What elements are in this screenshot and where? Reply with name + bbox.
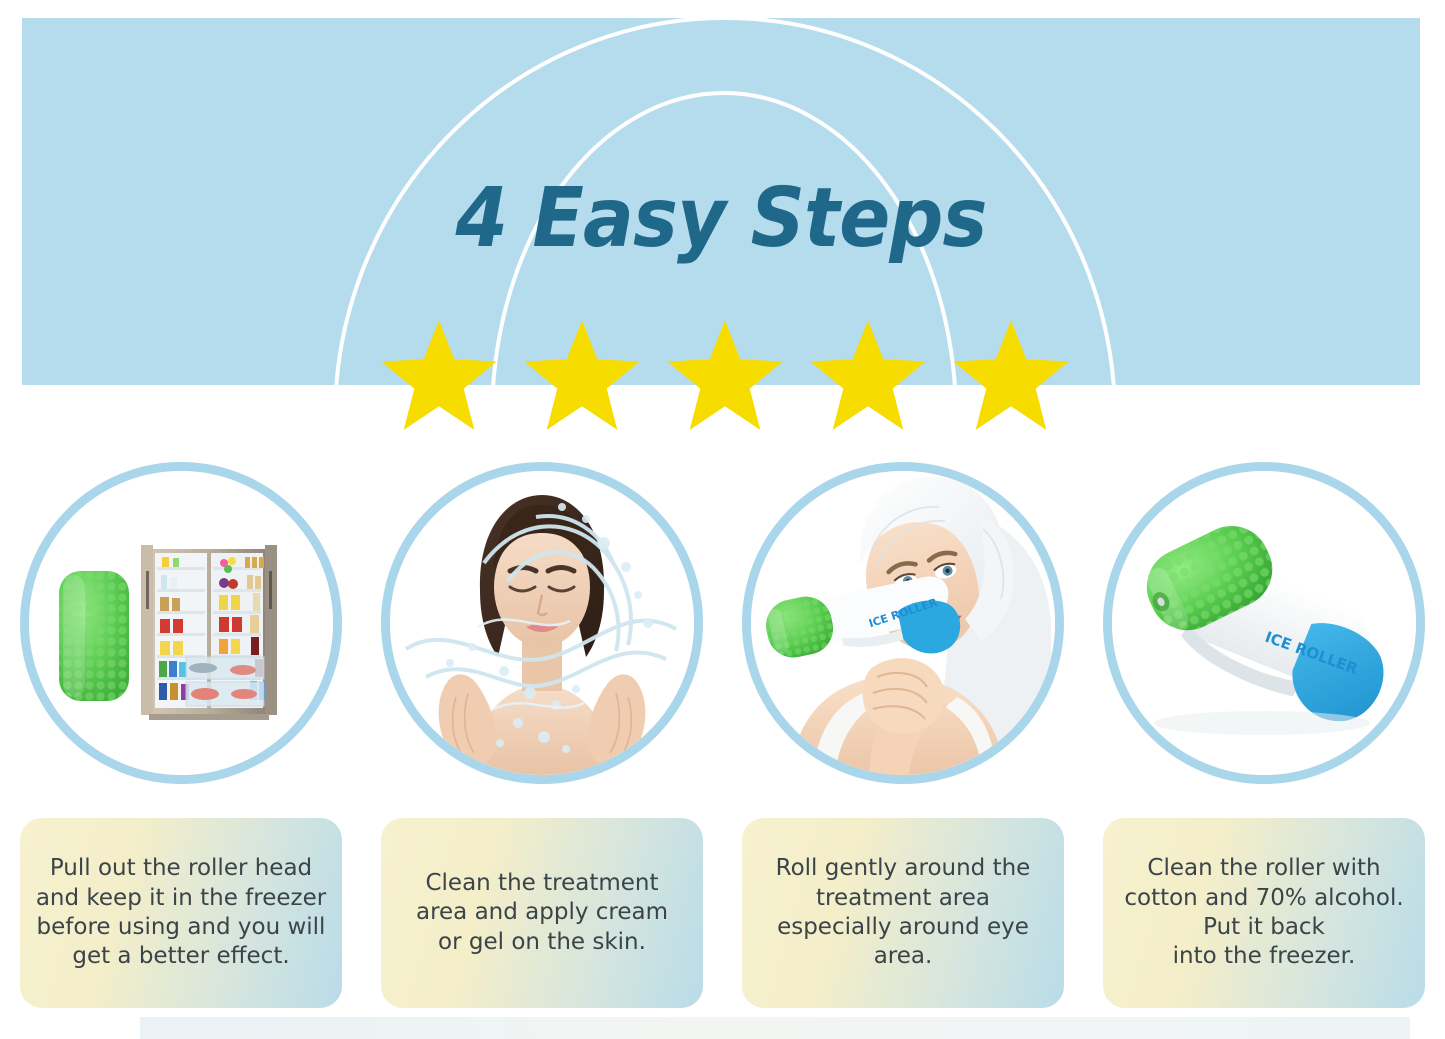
step-card-2: Clean the treatment area and apply cream… xyxy=(361,462,722,1022)
star-icon xyxy=(380,318,498,431)
step-1-caption-box: Pull out the roller head and keep it in … xyxy=(20,818,342,1008)
step-2-caption-text: Clean the treatment area and apply cream… xyxy=(416,869,668,957)
step-1-caption-text: Pull out the roller head and keep it in … xyxy=(36,854,326,972)
step-4-image-circle: ICE ROLLER xyxy=(1103,462,1425,784)
star-rating xyxy=(380,318,1070,438)
woman-washing-face-photo xyxy=(390,471,694,775)
step-card-4: ICE ROLLER Clean the roller with cotton … xyxy=(1083,462,1444,1022)
step-4-caption-text: Clean the roller with cotton and 70% alc… xyxy=(1124,854,1403,972)
step-2-caption-box: Clean the treatment area and apply cream… xyxy=(381,818,703,1008)
step-3-caption-box: Roll gently around the treatment area es… xyxy=(742,818,1064,1008)
step-2-image-circle xyxy=(381,462,703,784)
star-icon xyxy=(523,318,641,431)
steps-row: Pull out the roller head and keep it in … xyxy=(0,462,1445,1022)
woman-using-ice-roller-photo: ICE ROLLER xyxy=(751,471,1055,775)
ice-roller-disassembled-photo: ICE ROLLER xyxy=(1112,471,1416,775)
roller-head-and-freezer-photo xyxy=(29,471,333,775)
star-icon xyxy=(952,318,1070,431)
star-icon xyxy=(809,318,927,431)
page-title: 4 Easy Steps xyxy=(78,178,1364,260)
step-3-caption-text: Roll gently around the treatment area es… xyxy=(776,854,1031,972)
step-card-3: ICE ROLLER Roll gently around the treatm… xyxy=(722,462,1083,1022)
step-3-image-circle: ICE ROLLER xyxy=(742,462,1064,784)
step-1-image-circle xyxy=(20,462,342,784)
step-4-caption-box: Clean the roller with cotton and 70% alc… xyxy=(1103,818,1425,1008)
step-card-1: Pull out the roller head and keep it in … xyxy=(0,462,361,1022)
star-icon xyxy=(666,318,784,431)
bottom-accent-bar xyxy=(140,1017,1410,1039)
